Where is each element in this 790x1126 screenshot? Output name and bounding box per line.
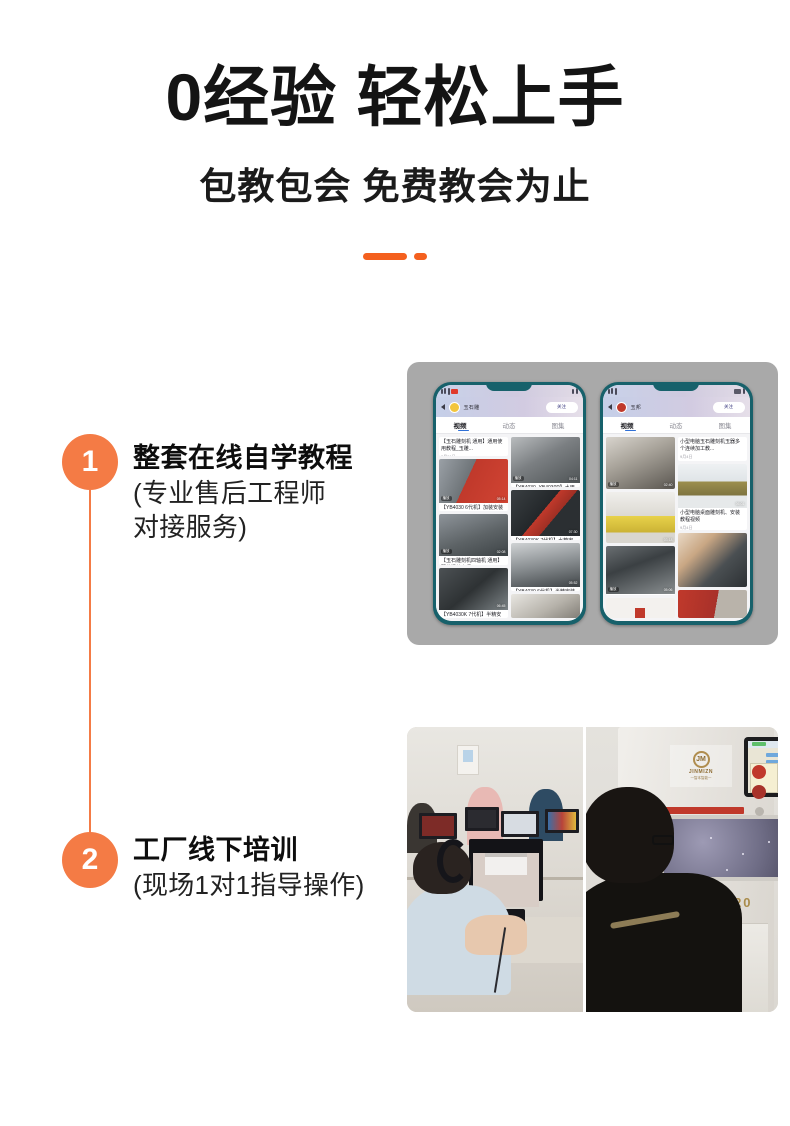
status-battery-icons <box>734 388 745 394</box>
video-thumbnail[interactable]: 07:30 <box>511 490 580 536</box>
app-header-right: 玉邦 关注 <box>603 397 750 417</box>
video-duration: 06:01 <box>736 502 745 506</box>
spark-particle <box>710 837 712 839</box>
step-1-title: 整套在线自学教程 <box>133 440 353 476</box>
back-arrow-icon[interactable] <box>608 404 612 410</box>
video-card[interactable]: 07:30 【YB4030K 7代机】水箱安装教程_玉邦全... 3月31日 <box>511 490 580 540</box>
video-thumbnail[interactable]: 05:52 <box>511 543 580 587</box>
video-card[interactable] <box>678 533 747 586</box>
software-window <box>485 853 527 875</box>
tab-gallery[interactable]: 图集 <box>552 420 565 430</box>
brand-mark-icon <box>635 608 645 618</box>
divider-dash-long <box>363 253 407 260</box>
video-card[interactable]: 播放 04:11 【YB4030_YB4030P】水用安装教程- 玉... 3月… <box>511 437 580 487</box>
signal-bar-icon <box>448 388 450 395</box>
video-thumbnail[interactable]: 播放 02:08 <box>439 514 508 556</box>
avatar <box>616 402 627 413</box>
status-signal-icons <box>441 388 459 395</box>
video-card-title: 小型电脑桌面雕刻机、安装教程视频 <box>678 508 747 524</box>
video-card[interactable]: 06:01 小型电脑桌面雕刻机、安装教程视频 9月4日 <box>678 464 747 530</box>
signal-bar-icon <box>444 388 446 394</box>
video-card[interactable]: 播放 05:14 【YB4030 6代机】加装安装教程_玉邦全... 3月31日 <box>439 459 508 511</box>
video-duration: 02:40 <box>664 483 673 487</box>
video-card[interactable]: 【玉石雕刻机 通用】通用使用教程_玉雕... 3月31日 <box>439 437 508 456</box>
spark-particle <box>742 853 744 855</box>
glasses-icon <box>652 835 674 845</box>
operator-body <box>586 873 742 1012</box>
video-duration: 06:45 <box>497 604 506 608</box>
status-battery-icons <box>572 388 578 394</box>
video-card-title: 小型电脑玉石雕刻机玉器多个连续加工教... <box>678 437 747 453</box>
phone-notch-left <box>486 382 532 391</box>
step-1: 整套在线自学教程 (专业售后工程师对接服务) <box>133 440 353 544</box>
video-card-date: 9月4日 <box>678 453 747 461</box>
video-duration: 05:52 <box>569 581 578 585</box>
play-label: 播放 <box>608 587 619 592</box>
tab-bar-right: 视频 动态 图集 <box>603 417 750 434</box>
account-name: 玉邦 <box>631 404 642 411</box>
play-label: 播放 <box>441 496 452 501</box>
tab-dynamic[interactable]: 动态 <box>670 420 683 430</box>
video-thumbnail[interactable]: 03:18 <box>606 492 675 544</box>
brand-tagline: 一智本智能一 <box>691 776 712 781</box>
machine-brand-logo: JM JINMIZN 一智本智能一 <box>670 745 732 787</box>
photo-machine-training: JM JINMIZN 一智本智能一 <box>586 727 778 1012</box>
video-card[interactable]: 06:45 【YB4030K 7代机】半精安装教程_玉邦全... 3月31日 <box>439 568 508 618</box>
account-name: 玉石雕 <box>464 404 480 411</box>
video-duration: 05:06 <box>664 588 673 592</box>
follow-button[interactable]: 关注 <box>546 402 578 413</box>
battery-icon <box>743 388 745 394</box>
tab-bar-left: 视频 动态 图集 <box>436 417 583 434</box>
tab-video[interactable]: 视频 <box>454 420 467 430</box>
app-header-left: 玉石雕 关注 <box>436 397 583 417</box>
video-duration: 05:14 <box>497 497 506 501</box>
phone-mockup-left: 玉石雕 关注 视频 动态 图集 【玉石雕刻机 通用】通用使用教程_玉雕... 3… <box>433 382 586 625</box>
phone-screen-right: 玉邦 关注 视频 动态 图集 播放 02:40 <box>603 385 750 621</box>
signal-bar-icon <box>608 389 610 394</box>
video-card-title: 【YB4030K 7代机】半精安装教程_玉邦全... <box>439 610 508 618</box>
video-card-title: 【玉石雕刻机四轴机 通用】配件清单介绍... <box>439 556 508 564</box>
video-thumbnail[interactable] <box>511 594 580 618</box>
feed-column: 播放 04:11 【YB4030_YB4030P】水用安装教程- 玉... 3月… <box>511 437 580 618</box>
tab-dynamic[interactable]: 动态 <box>503 420 516 430</box>
video-card[interactable] <box>606 598 675 618</box>
signal-bar-icon <box>611 388 613 394</box>
step-badge-2: 2 <box>62 832 118 888</box>
step-badge-1: 1 <box>62 434 118 490</box>
signal-bar-icon <box>615 388 617 395</box>
spark-particle <box>768 841 770 843</box>
video-duration: 04:11 <box>569 477 578 481</box>
video-card[interactable]: 播放 02:08 【玉石雕刻机四轴机 通用】配件清单介绍... 3月31日 <box>439 514 508 564</box>
video-card-title: 【玉石雕刻机 通用】通用使用教程_玉雕... <box>439 437 508 453</box>
tab-gallery[interactable]: 图集 <box>719 420 732 430</box>
video-card[interactable]: 小型电脑玉石雕刻机玉器多个连续加工教... 9月4日 <box>678 437 747 461</box>
logo-monogram: JM <box>693 751 710 768</box>
headphones-icon <box>437 839 469 883</box>
wifi-icon <box>572 389 574 394</box>
video-card-title: 【YB4030 6代机】半精安装教程_玉邦全... <box>511 587 580 592</box>
emergency-stop-button[interactable] <box>752 765 766 779</box>
monitor-screen <box>504 814 536 834</box>
photo-classroom-training <box>407 727 583 1012</box>
hmi-blue-button[interactable] <box>766 753 778 757</box>
poster-graphic <box>463 750 473 762</box>
section-divider <box>0 253 790 260</box>
video-thumbnail[interactable] <box>678 533 747 586</box>
follow-button[interactable]: 关注 <box>713 402 745 413</box>
video-card-date: 3月31日 <box>439 453 508 456</box>
machine-accent-stripe <box>658 807 744 814</box>
battery-icon <box>576 388 578 394</box>
video-thumbnail[interactable]: 播放 05:14 <box>439 459 508 503</box>
step-1-subtitle: (专业售后工程师对接服务) <box>133 476 333 544</box>
promo-page: 0经验 轻松上手 包教包会 免费教会为止 1 整套在线自学教程 (专业售后工程师… <box>0 0 790 1126</box>
play-label: 播放 <box>513 476 524 481</box>
machining-chamber <box>664 819 778 877</box>
video-card-date: 9月4日 <box>678 524 747 530</box>
power-button[interactable] <box>752 785 766 799</box>
hmi-green-button[interactable] <box>752 742 766 746</box>
machine-view-window <box>660 815 778 881</box>
phone-screen-left: 玉石雕 关注 视频 动态 图集 【玉石雕刻机 通用】通用使用教程_玉雕... 3… <box>436 385 583 621</box>
wifi-icon <box>734 389 741 394</box>
video-thumbnail[interactable] <box>678 590 747 619</box>
video-duration: 02:08 <box>497 550 506 554</box>
video-card[interactable]: 03:18 小型电脑玉石雕刻机双面浮雕编程教学机... 9月4日 <box>606 492 675 544</box>
video-feed-left[interactable]: 【玉石雕刻机 通用】通用使用教程_玉雕... 3月31日 播放 05:14 【Y… <box>436 434 583 621</box>
phone-notch-right <box>653 382 699 391</box>
video-thumbnail[interactable]: 06:45 <box>439 568 508 610</box>
avatar <box>449 402 460 413</box>
video-card-title: 玉石雕刻用什么工具较简单？轻松加工玉... <box>606 594 675 595</box>
play-label: 播放 <box>441 549 452 554</box>
feed-column: 【玉石雕刻机 通用】通用使用教程_玉雕... 3月31日 播放 05:14 【Y… <box>439 437 508 618</box>
back-arrow-icon[interactable] <box>441 404 445 410</box>
step-2: 工厂线下培训 (现场1对1指导操作) <box>133 832 365 902</box>
video-thumbnail[interactable]: 播放 05:06 <box>606 546 675 594</box>
video-card[interactable]: 播放 02:40 电脑小型玉石雕刻机单面浮雕雕刻上机视... 9月4日 <box>606 437 675 489</box>
video-duration: 03:18 <box>664 538 673 542</box>
control-knob[interactable] <box>755 807 764 816</box>
step-2-subtitle: (现场1对1指导操作) <box>133 868 365 902</box>
training-photos-panel: JM JINMIZN 一智本智能一 <box>407 727 778 1012</box>
tab-video[interactable]: 视频 <box>621 420 634 430</box>
signal-bar-icon <box>441 389 443 394</box>
video-duration: 07:30 <box>569 530 578 534</box>
video-card[interactable] <box>678 590 747 619</box>
wall-poster <box>457 745 479 775</box>
divider-dash-short <box>414 253 427 260</box>
phone-mockup-right: 玉邦 关注 视频 动态 图集 播放 02:40 <box>600 382 753 625</box>
feed-column: 小型电脑玉石雕刻机玉器多个连续加工教... 9月4日 06:01 小型电脑桌面雕… <box>678 437 747 618</box>
video-thumbnail[interactable]: 播放 02:40 <box>606 437 675 489</box>
status-signal-icons <box>608 388 617 395</box>
video-card-title: 【YB4030 6代机】加装安装教程_玉邦全... <box>439 503 508 511</box>
video-card-title: 【YB4030K 7代机】水箱安装教程_玉邦全... <box>511 536 580 540</box>
video-feed-right[interactable]: 播放 02:40 电脑小型玉石雕刻机单面浮雕雕刻上机视... 9月4日 03:1… <box>603 434 750 621</box>
spark-particle <box>726 869 728 871</box>
play-label: 播放 <box>608 482 619 487</box>
video-card[interactable]: 播放 05:06 玉石雕刻用什么工具较简单？轻松加工玉... 8月28日 <box>606 546 675 595</box>
monitor-screen <box>468 810 496 828</box>
feed-column: 播放 02:40 电脑小型玉石雕刻机单面浮雕雕刻上机视... 9月4日 03:1… <box>606 437 675 618</box>
video-card[interactable]: 05:52 【YB4030 6代机】半精安装教程_玉邦全... 3月31日 <box>511 543 580 592</box>
video-card-title: 【YB4030_YB4030P】水用安装教程- 玉... <box>511 483 580 487</box>
student-arm <box>465 915 527 955</box>
video-thumbnail[interactable]: 播放 04:11 <box>511 437 580 483</box>
video-thumbnail[interactable]: 06:01 <box>678 464 747 508</box>
page-subtitle: 包教包会 免费教会为止 <box>0 163 790 211</box>
page-title: 0经验 轻松上手 <box>0 56 790 138</box>
monitor-screen <box>422 816 454 836</box>
notification-badge-icon <box>451 389 458 394</box>
brand-name: JINMIZN <box>689 769 713 775</box>
monitor-screen <box>548 812 576 830</box>
video-thumbnail[interactable] <box>606 598 675 618</box>
timeline-connector <box>89 490 91 835</box>
step-2-title: 工厂线下培训 <box>133 832 365 868</box>
video-card[interactable] <box>511 594 580 618</box>
phone-screenshots-panel: 玉石雕 关注 视频 动态 图集 【玉石雕刻机 通用】通用使用教程_玉雕... 3… <box>407 362 778 645</box>
